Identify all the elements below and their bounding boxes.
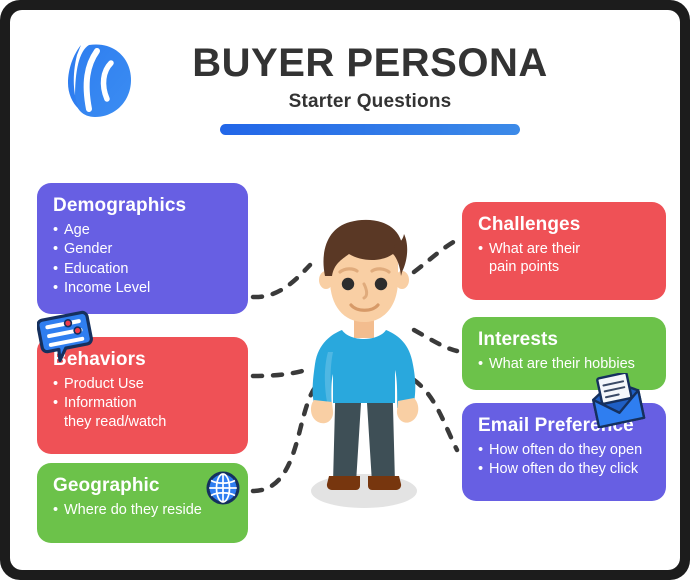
card-item-list: Product Use Information they read/watch	[53, 375, 232, 432]
card-item-list: How often do they open How often do they…	[478, 441, 650, 479]
buyer-persona-character	[296, 218, 431, 510]
card-title: Demographics	[53, 195, 232, 217]
list-item: Product Use	[53, 375, 232, 394]
card-challenges[interactable]: Challenges What are their pain points	[462, 202, 666, 300]
card-item-list: Age Gender Education Income Level	[53, 221, 232, 298]
chat-bubble-icon	[37, 310, 93, 362]
card-title: Challenges	[478, 214, 650, 236]
card-title: Interests	[478, 329, 650, 351]
brand-swirl-logo-icon	[53, 37, 139, 123]
card-item-list: What are their pain points	[478, 240, 650, 277]
globe-icon	[206, 471, 240, 505]
page-subtitle: Starter Questions	[160, 91, 580, 113]
open-envelope-icon	[588, 373, 646, 428]
infographic-frame: BUYER PERSONA Starter Questions	[0, 0, 690, 580]
list-item: How often do they click	[478, 460, 650, 479]
list-item: What are their pain points	[478, 240, 650, 277]
title-accent-bar	[220, 124, 520, 135]
card-demographics[interactable]: Demographics Age Gender Education Income…	[37, 183, 248, 314]
list-item: Income Level	[53, 279, 232, 298]
title-block: BUYER PERSONA Starter Questions	[160, 42, 580, 135]
page-title: BUYER PERSONA	[160, 42, 580, 84]
list-item: Information they read/watch	[53, 394, 232, 431]
list-item: Education	[53, 260, 232, 279]
list-item: How often do they open	[478, 441, 650, 460]
list-item: Age	[53, 221, 232, 240]
list-item: Gender	[53, 240, 232, 259]
infographic-canvas: BUYER PERSONA Starter Questions	[10, 10, 680, 570]
list-item: What are their hobbies	[478, 355, 650, 374]
card-item-list: What are their hobbies	[478, 355, 650, 374]
